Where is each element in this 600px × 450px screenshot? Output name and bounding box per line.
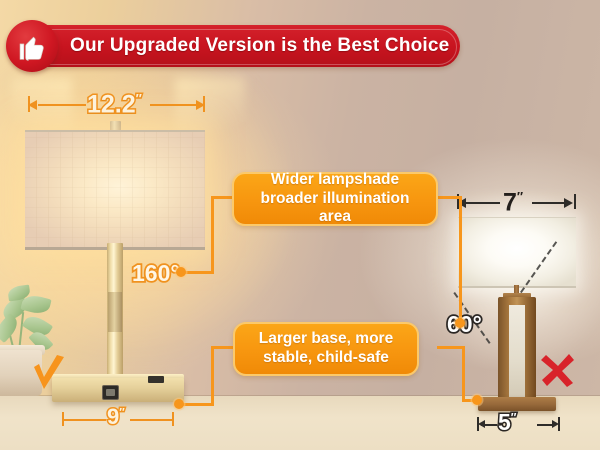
upgraded-beam-angle-value: 160° <box>132 260 180 286</box>
upgraded-base-width-label: 9″ <box>107 406 124 428</box>
dimension-line-right <box>130 419 174 421</box>
connector-dot-old-base <box>472 395 482 405</box>
old-base-width-label: 5″ <box>498 411 516 434</box>
dimension-arrow-left <box>478 420 485 428</box>
lamp-pole-segment <box>108 292 122 332</box>
old-lamp-body-cutout <box>509 305 525 399</box>
upgraded-shade-width-value: 12.2 <box>87 90 136 118</box>
callout-lampshade[interactable]: Wider lampshade broader illumination are… <box>232 172 438 226</box>
upgraded-base-width-value: 9 <box>107 404 119 429</box>
connector-line-base-left-top <box>211 346 233 349</box>
dimension-tick-right <box>574 194 576 209</box>
usb-port <box>148 376 164 383</box>
header-banner: Our Upgraded Version is the Best Choice <box>8 25 460 67</box>
callout-base-line2: stable, child-safe <box>263 349 389 366</box>
dimension-tick-right <box>558 417 560 431</box>
connector-line-lampshade-right-v <box>459 196 462 323</box>
dimension-line-right <box>532 202 564 204</box>
callout-lampshade-line1: Wider lampshade <box>271 171 399 188</box>
callout-lampshade-line2: broader illumination area <box>261 190 410 226</box>
old-shade-width-value: 7 <box>503 188 517 216</box>
power-outlet <box>102 385 119 400</box>
old-lamp-base <box>478 397 556 411</box>
connector-line-lampshade-right-top <box>437 196 461 199</box>
old-base-width-value: 5 <box>498 409 511 435</box>
upgraded-shade-width-unit: ″ <box>136 91 142 106</box>
connector-dot-60deg <box>455 318 465 328</box>
dimension-line-left <box>466 202 500 204</box>
connector-line-lampshade-left-v <box>211 196 214 274</box>
dimension-tick-right <box>203 96 205 112</box>
old-shade-width-label: 7″ <box>503 190 523 215</box>
connector-line-base-right-v <box>462 346 465 401</box>
dimension-tick-left <box>477 417 479 431</box>
callout-lampshade-text: Wider lampshade broader illumination are… <box>246 171 424 228</box>
callout-base-line1: Larger base, more <box>259 330 393 347</box>
infographic-canvas: Our Upgraded Version is the Best Choice … <box>0 0 600 450</box>
callout-base-text: Larger base, more stable, child-safe <box>259 330 393 368</box>
connector-line-base-right-top <box>437 346 465 349</box>
dimension-line-right <box>150 104 196 106</box>
dimension-line-right <box>537 424 552 426</box>
check-icon <box>32 355 66 397</box>
dimension-line-left <box>62 419 106 421</box>
old-shade-width-unit: ″ <box>517 189 523 204</box>
dimension-tick-left <box>62 412 64 426</box>
upgraded-lamp-shade <box>25 130 205 250</box>
dimension-tick-left <box>28 96 30 112</box>
dimension-line-left <box>38 104 86 106</box>
upgraded-base-width-unit: ″ <box>119 407 124 419</box>
banner-title: Our Upgraded Version is the Best Choice <box>70 35 449 57</box>
dimension-tick-right <box>172 412 174 426</box>
connector-dot-upgraded-base <box>174 399 184 409</box>
x-icon <box>540 352 576 388</box>
thumbs-up-icon <box>6 20 58 72</box>
connector-dot-160deg <box>176 267 186 277</box>
upgraded-beam-angle-label: 160° <box>132 262 180 285</box>
upgraded-shade-width-label: 12.2″ <box>87 92 141 117</box>
callout-base[interactable]: Larger base, more stable, child-safe <box>233 322 419 376</box>
dimension-arrow-right <box>564 198 573 208</box>
connector-line-lampshade-left-top <box>211 196 233 199</box>
old-lamp-shade <box>458 217 576 288</box>
shade-linen-texture <box>25 132 205 247</box>
connector-line-base-left-v <box>211 346 214 406</box>
old-base-width-unit: ″ <box>511 410 516 424</box>
